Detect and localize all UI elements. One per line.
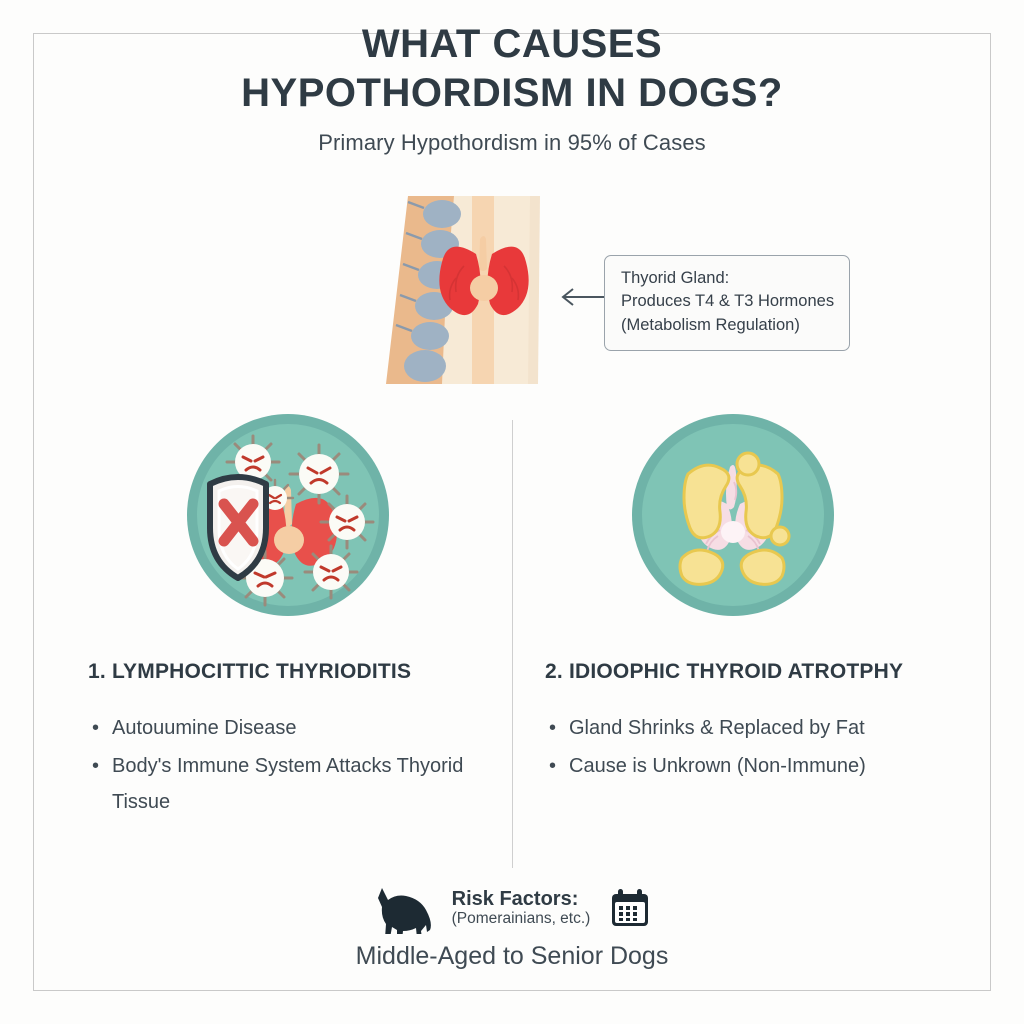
page-title-line-1: WHAT CAUSES <box>0 20 1024 69</box>
list-item: Gland Shrinks & Replaced by Fat <box>545 710 965 746</box>
calendar-icon <box>608 886 652 930</box>
list-item: Autouumine Disease <box>88 710 508 746</box>
column-divider <box>512 420 513 868</box>
list-item: Cause is Unkrown (Non-Immune) <box>545 748 965 784</box>
dog-silhouette-icon <box>372 882 434 934</box>
idiopathic-thyroid-atrophy-icon <box>630 412 836 618</box>
list-item: Body's Immune System Attacks Thyorid Tis… <box>88 748 508 820</box>
callout-line-1: Thyorid Gland: <box>621 267 835 290</box>
column-heading: 2. IDIOOPHIC THYROID ATROTPHY <box>545 660 965 684</box>
column-bullet-list: Gland Shrinks & Replaced by Fat Cause is… <box>545 710 965 784</box>
lymphocytic-thyroiditis-icon <box>185 412 391 618</box>
column-bullet-list: Autouumine Disease Body's Immune System … <box>88 710 508 820</box>
callout-line-2: Produces T4 & T3 Hormones <box>621 290 835 313</box>
column-heading: 1. LYMPHOCITTIC THYRIODITIS <box>88 660 508 684</box>
page-subtitle: Primary Hypothordism in 95% of Cases <box>0 130 1024 156</box>
callout-arrow-icon <box>556 283 608 311</box>
footer-caption: Middle-Aged to Senior Dogs <box>0 942 1024 971</box>
risk-factors-text: Risk Factors: (Pomerainians, etc.) <box>452 888 591 928</box>
risk-factors-subtitle: (Pomerainians, etc.) <box>452 910 591 927</box>
cause-column-lymphocytic-thyroiditis: 1. LYMPHOCITTIC THYRIODITIS Autouumine D… <box>88 660 508 822</box>
footer: Risk Factors: (Pomerainians, etc.) Midd <box>0 880 1024 971</box>
cause-column-idiopathic-thyroid-atrophy: 2. IDIOOPHIC THYROID ATROTPHY Gland Shri… <box>545 660 965 786</box>
risk-factors-title: Risk Factors: <box>452 888 579 910</box>
page-title-line-2: HYPOTHORDISM IN DOGS? <box>0 69 1024 118</box>
neck-anatomy-illustration <box>380 196 558 384</box>
header: WHAT CAUSES HYPOTHORDISM IN DOGS? Primar… <box>0 20 1024 156</box>
infographic-poster: WHAT CAUSES HYPOTHORDISM IN DOGS? Primar… <box>0 0 1024 1024</box>
callout-line-3: (Metabolism Regulation) <box>621 314 835 337</box>
thyroid-gland-callout: Thyorid Gland: Produces T4 & T3 Hormones… <box>604 255 850 351</box>
risk-factors-row: Risk Factors: (Pomerainians, etc.) <box>0 880 1024 936</box>
